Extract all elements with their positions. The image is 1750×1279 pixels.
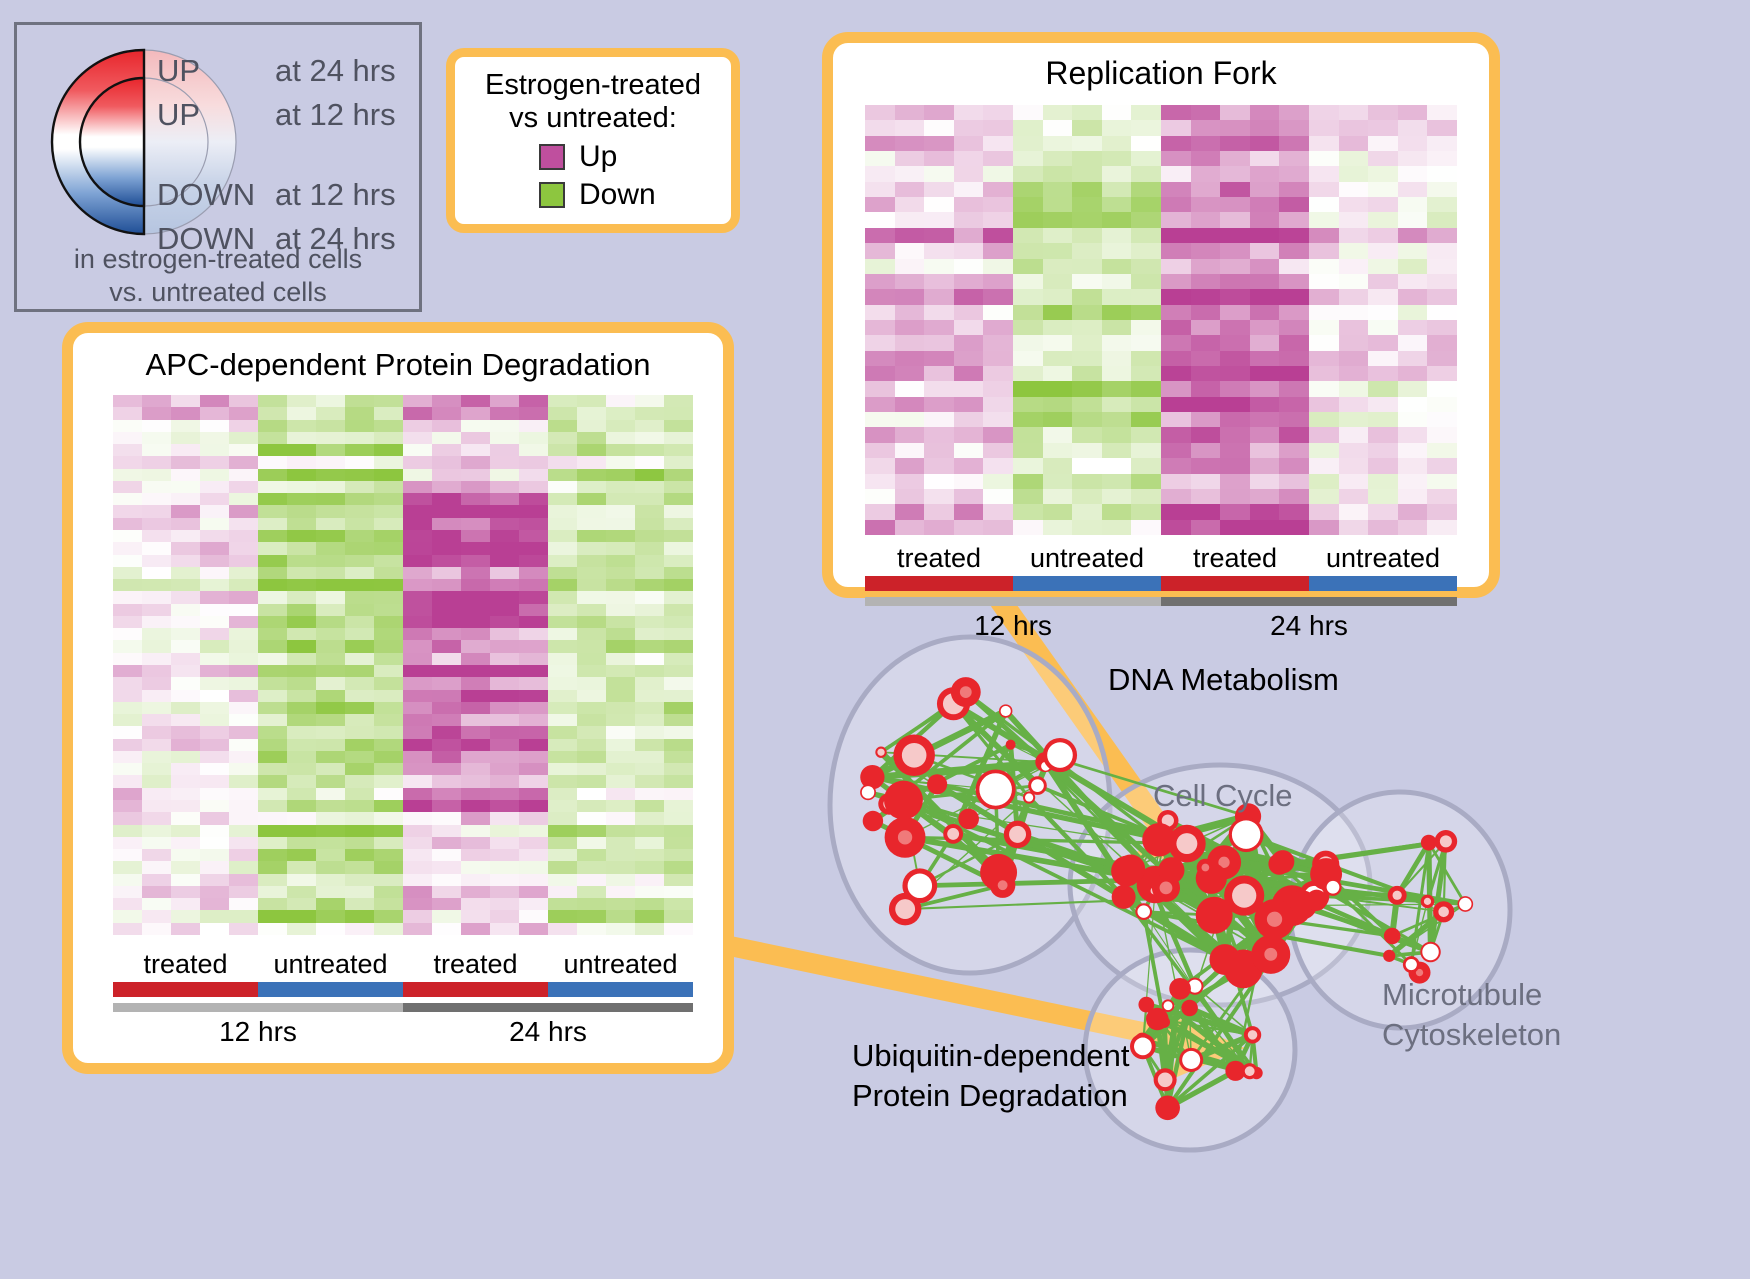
group-bar-treated-24: [1161, 576, 1309, 591]
network-node: [1135, 903, 1152, 920]
group-label-treated-12: treated: [865, 543, 1013, 574]
time-bar-12hrs: [113, 1003, 403, 1012]
group-bar-untreated-24: [1309, 576, 1457, 591]
network-node: [1420, 942, 1440, 962]
group-bar-treated-24: [403, 982, 548, 997]
network-node: [1457, 896, 1473, 912]
network-node: [1111, 856, 1142, 887]
network-node: [1421, 835, 1437, 851]
network-node: [1028, 776, 1047, 795]
network-node: [1043, 738, 1077, 772]
network-node: [860, 784, 876, 800]
panel-apc-degradation: APC-dependent Protein Degradation treate…: [62, 322, 734, 1074]
cluster-label-ubiquitin: Ubiquitin-dependent: [852, 1038, 1130, 1074]
time-bar-12hrs: [865, 597, 1161, 606]
network-node: [958, 809, 979, 830]
panel-replication-fork: Replication Fork treated untreated treat…: [822, 32, 1500, 598]
legend-label-down: Down: [579, 178, 656, 212]
time-color-bar-apc: [113, 1003, 693, 1012]
key-spacer: [157, 141, 412, 177]
time-label-24hrs: 24 hrs: [403, 1016, 693, 1048]
key-row-up-24: UP at 24 hrs: [157, 53, 412, 97]
network-node: [1251, 935, 1290, 974]
network-diagram: DNA Metabolism Cell Cycle Microtubule Cy…: [790, 610, 1580, 1170]
legend-label-up: Up: [579, 140, 617, 174]
cluster-label-dna-metabolism: DNA Metabolism: [1108, 662, 1339, 698]
network-node: [863, 811, 883, 831]
key-direction-label: UP: [157, 53, 275, 89]
group-bar-treated-12: [865, 576, 1013, 591]
network-node: [1181, 1000, 1198, 1017]
time-bar-24hrs: [403, 1003, 693, 1012]
network-node: [1168, 825, 1206, 863]
figure-canvas: UP at 24 hrs UP at 12 hrs DOWN at 12 hrs…: [0, 0, 1750, 1279]
key-time-label: at 12 hrs: [275, 177, 396, 213]
group-label-untreated-12: untreated: [1013, 543, 1161, 574]
key-row-down-12: DOWN at 12 hrs: [157, 177, 412, 221]
legend-swatch-up-icon: [539, 144, 565, 170]
network-node: [999, 704, 1012, 717]
group-label-untreated-12: untreated: [258, 949, 403, 980]
time-bar-24hrs: [1161, 597, 1457, 606]
legend-swatch-down-icon: [539, 182, 565, 208]
network-node: [1433, 901, 1454, 922]
panel-title-replication-fork: Replication Fork: [833, 55, 1489, 92]
network-node: [884, 781, 923, 820]
network-node: [951, 677, 981, 707]
network-node: [1384, 928, 1401, 945]
panel-title-apc: APC-dependent Protein Degradation: [73, 347, 723, 383]
network-node: [1196, 897, 1233, 934]
network-node: [1383, 950, 1395, 962]
group-bar-treated-12: [113, 982, 258, 997]
color-key-rows: UP at 24 hrs UP at 12 hrs DOWN at 12 hrs…: [157, 53, 412, 265]
network-node: [976, 769, 1016, 809]
network-node: [1130, 1034, 1156, 1060]
network-node: [1268, 853, 1290, 875]
color-key-footer: in estrogen-treated cells vs. untreated …: [17, 243, 419, 309]
legend-title-line2: vs untreated:: [455, 102, 731, 135]
network-node: [1242, 1063, 1258, 1079]
color-key-box: UP at 24 hrs UP at 12 hrs DOWN at 12 hrs…: [14, 22, 422, 312]
time-label-12hrs: 12 hrs: [113, 1016, 403, 1048]
network-node: [1324, 879, 1341, 896]
group-label-treated-12: treated: [113, 949, 258, 980]
key-time-label: at 12 hrs: [275, 97, 396, 133]
time-labels-apc: 12 hrs 24 hrs: [113, 1016, 693, 1048]
key-footer-line2: vs. untreated cells: [17, 276, 419, 309]
network-node: [1403, 956, 1420, 973]
network-node: [927, 774, 947, 794]
network-node: [1197, 859, 1214, 876]
up-down-legend-card: Estrogen-treated vs untreated: Up Down: [446, 48, 740, 233]
network-node: [1254, 899, 1294, 939]
axis-apc: treated untreated treated untreated 12 h…: [113, 949, 693, 1048]
legend-title-line1: Estrogen-treated: [455, 69, 731, 102]
network-node: [1229, 817, 1264, 852]
network-node: [1388, 886, 1407, 905]
network-node: [1006, 740, 1016, 750]
network-node: [1244, 1026, 1261, 1043]
group-label-treated-24: treated: [403, 949, 548, 980]
network-node: [1155, 1095, 1180, 1120]
time-color-bar-replication: [865, 597, 1457, 606]
legend-title: Estrogen-treated vs untreated:: [455, 69, 731, 136]
network-node: [990, 872, 1015, 897]
group-color-bar-apc: [113, 982, 693, 997]
network-node: [1169, 978, 1191, 1000]
network-node: [1306, 890, 1327, 911]
cluster-label-microtubule: Microtubule: [1382, 977, 1542, 1013]
group-label-treated-24: treated: [1161, 543, 1309, 574]
network-node: [1179, 1048, 1203, 1072]
network-node: [885, 817, 926, 858]
network-node: [1112, 885, 1136, 909]
network-node: [902, 868, 937, 903]
cluster-label-protein-degradation: Protein Degradation: [852, 1078, 1128, 1114]
network-node: [1146, 1008, 1168, 1030]
cluster-label-cell-cycle: Cell Cycle: [1153, 778, 1293, 814]
heatmap-apc-degradation: [113, 395, 693, 935]
legend-item-down: Down: [539, 178, 731, 212]
group-label-untreated-24: untreated: [1309, 543, 1457, 574]
group-color-bar-replication: [865, 576, 1457, 591]
group-bar-untreated-24: [548, 982, 693, 997]
network-node: [875, 747, 886, 758]
group-bar-untreated-12: [258, 982, 403, 997]
heatmap-replication-fork: [865, 105, 1457, 535]
key-direction-label: DOWN: [157, 177, 275, 213]
group-labels-replication: treated untreated treated untreated: [865, 543, 1457, 574]
key-row-up-12: UP at 12 hrs: [157, 97, 412, 141]
network-node: [1004, 821, 1032, 849]
key-time-label: at 24 hrs: [275, 53, 396, 89]
group-bar-untreated-12: [1013, 576, 1161, 591]
group-label-untreated-24: untreated: [548, 949, 693, 980]
network-node: [893, 734, 935, 776]
network-node: [1435, 830, 1458, 853]
key-direction-label: UP: [157, 97, 275, 133]
network-node: [1154, 1068, 1177, 1091]
group-labels-apc: treated untreated treated untreated: [113, 949, 693, 980]
key-footer-line1: in estrogen-treated cells: [17, 243, 419, 276]
network-node: [943, 824, 963, 844]
cluster-label-cytoskeleton: Cytoskeleton: [1382, 1017, 1561, 1053]
legend-item-up: Up: [539, 140, 731, 174]
network-node: [1152, 874, 1180, 902]
network-node: [1421, 895, 1435, 909]
